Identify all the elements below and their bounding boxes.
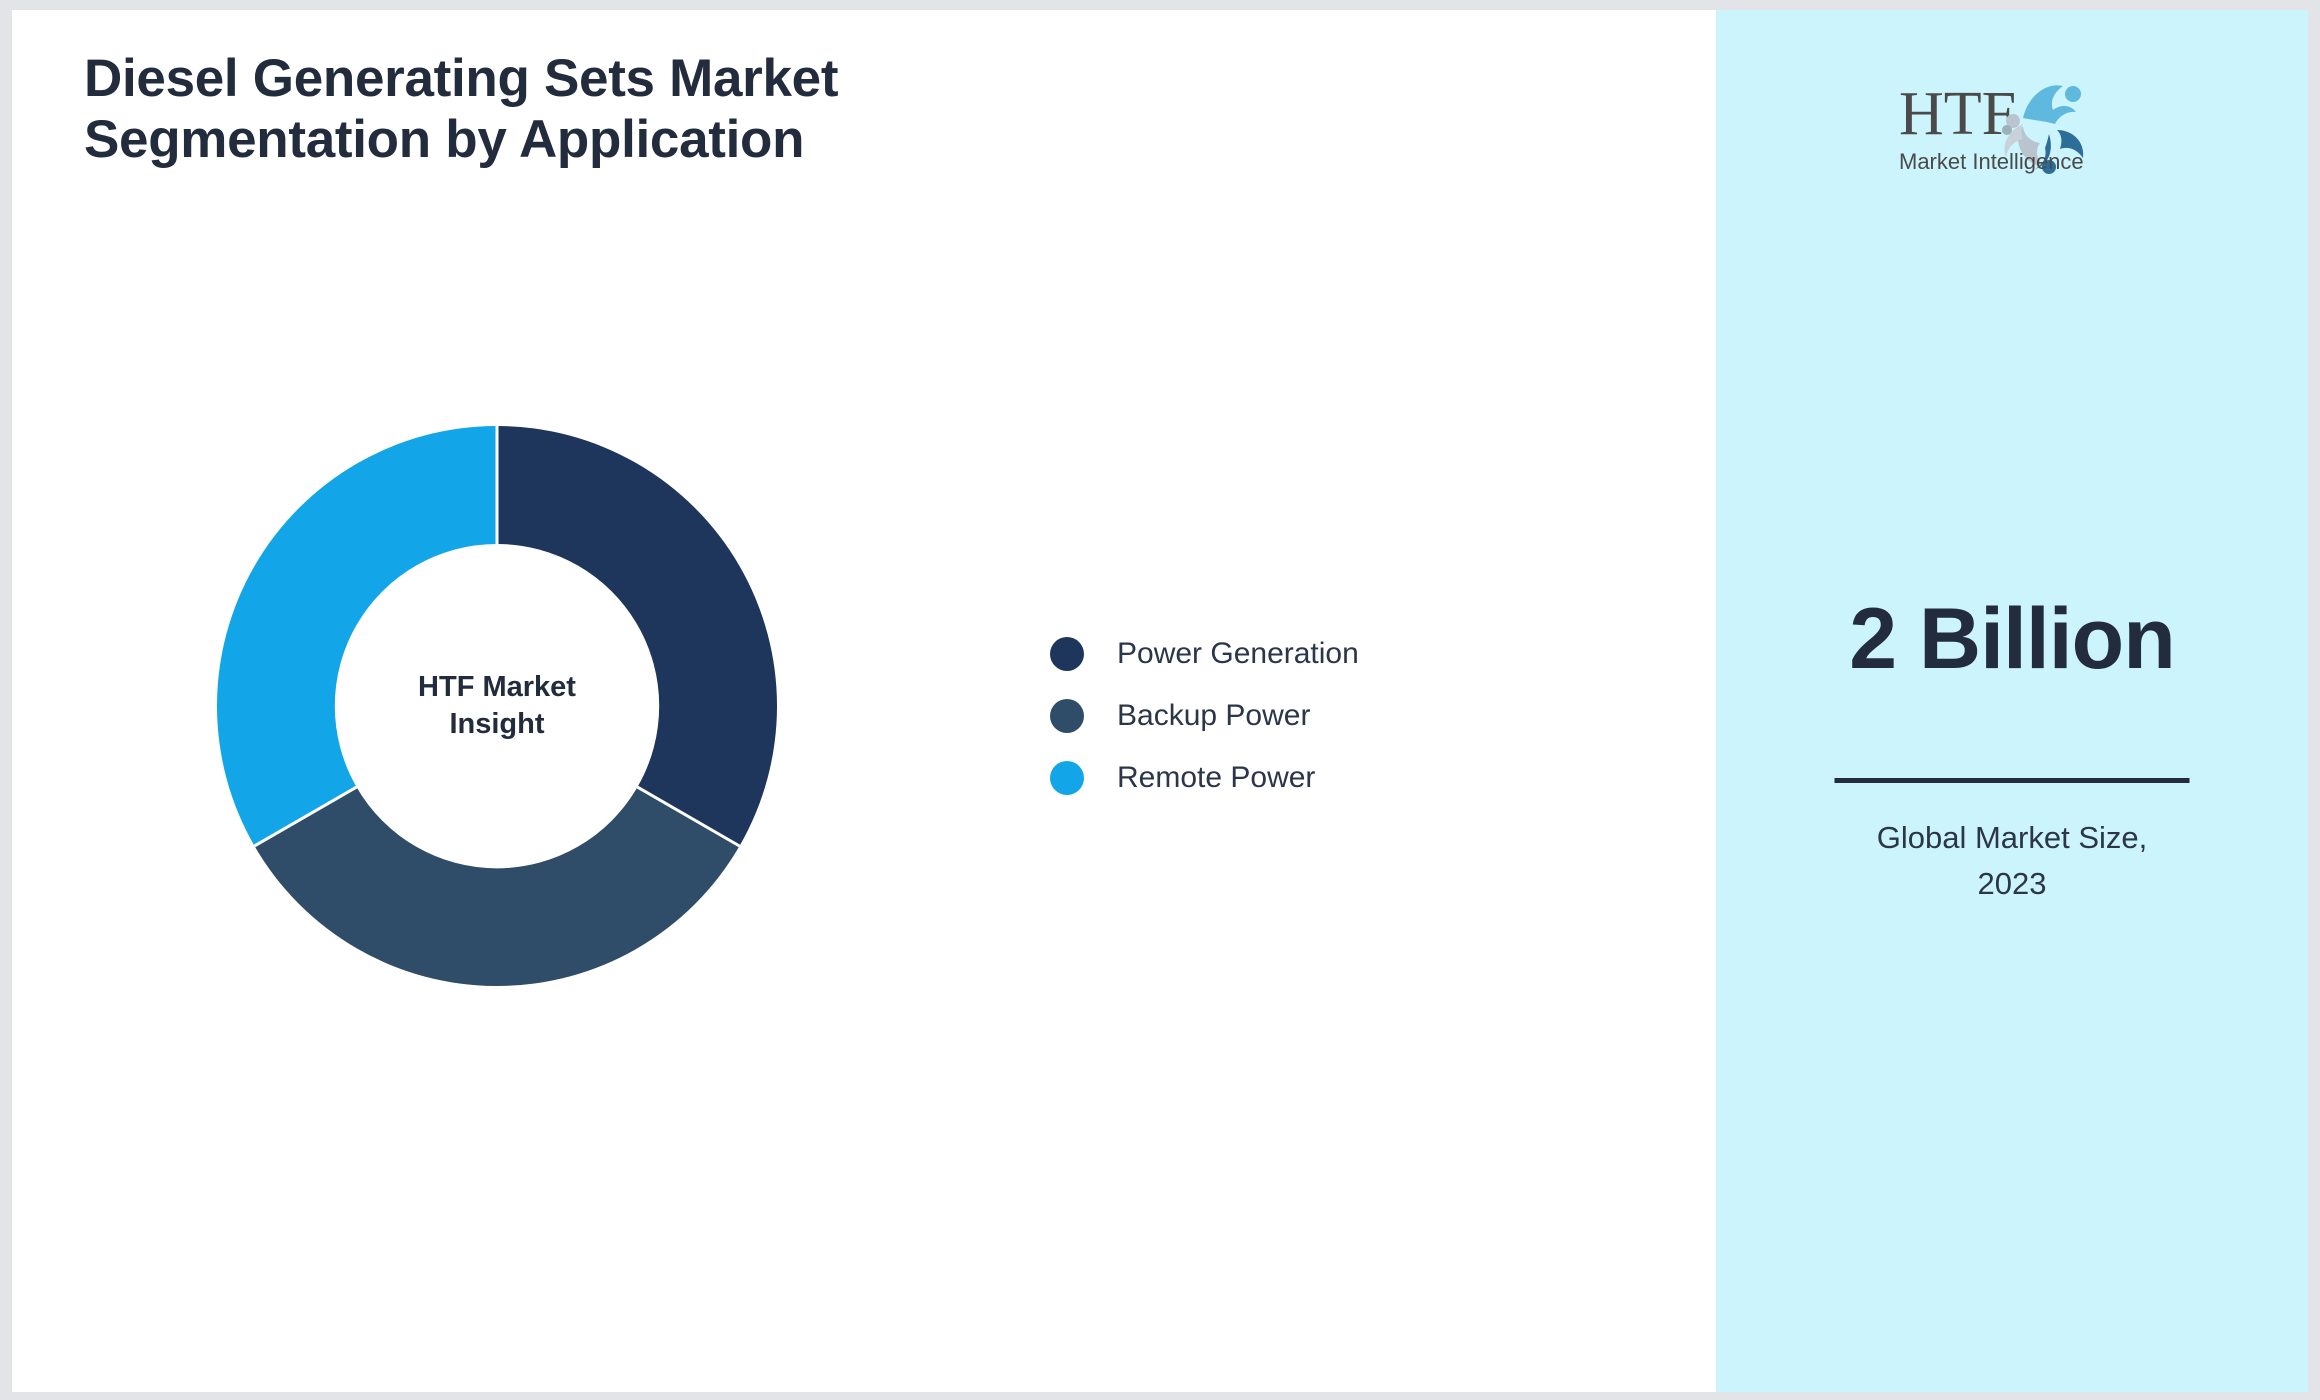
stat-caption-line2: 2023 — [1716, 861, 2308, 907]
donut-chart: HTF Market Insight — [217, 426, 777, 986]
legend-swatch-icon — [1050, 699, 1084, 733]
legend-item-remote-power[interactable]: Remote Power — [1050, 747, 1530, 809]
legend-swatch-icon — [1050, 637, 1084, 671]
infographic-card: Diesel Generating Sets Market Segmentati… — [12, 10, 2308, 1392]
stat-divider — [1835, 778, 2190, 783]
legend-item-label: Remote Power — [1117, 761, 1315, 795]
htf-logo-icon: HTF Market In — [1897, 72, 2127, 177]
chart-panel: Diesel Generating Sets Market Segmentati… — [12, 10, 1716, 1392]
stat-panel: HTF Market In — [1716, 10, 2308, 1392]
donut-slice-power-generation[interactable] — [497, 426, 777, 846]
legend-swatch-icon — [1050, 761, 1084, 795]
stat-value: 2 Billion — [1716, 590, 2308, 689]
svg-text:Market Intelligence: Market Intelligence — [1899, 149, 2084, 174]
htf-market-intelligence-logo: HTF Market In — [1716, 72, 2308, 177]
legend-item-power-generation[interactable]: Power Generation — [1050, 623, 1530, 685]
donut-slice-remote-power[interactable] — [217, 426, 497, 846]
donut-slice-backup-power[interactable] — [255, 787, 740, 986]
svg-text:HTF: HTF — [1899, 80, 2016, 148]
legend-item-backup-power[interactable]: Backup Power — [1050, 685, 1530, 747]
stat-caption: Global Market Size, 2023 — [1716, 815, 2308, 907]
chart-legend: Power Generation Backup Power Remote Pow… — [1050, 623, 1530, 809]
page-title: Diesel Generating Sets Market Segmentati… — [84, 48, 1084, 171]
donut-chart-svg — [217, 426, 777, 986]
legend-item-label: Power Generation — [1117, 637, 1359, 671]
legend-item-label: Backup Power — [1117, 699, 1310, 733]
stat-caption-line1: Global Market Size, — [1716, 815, 2308, 861]
